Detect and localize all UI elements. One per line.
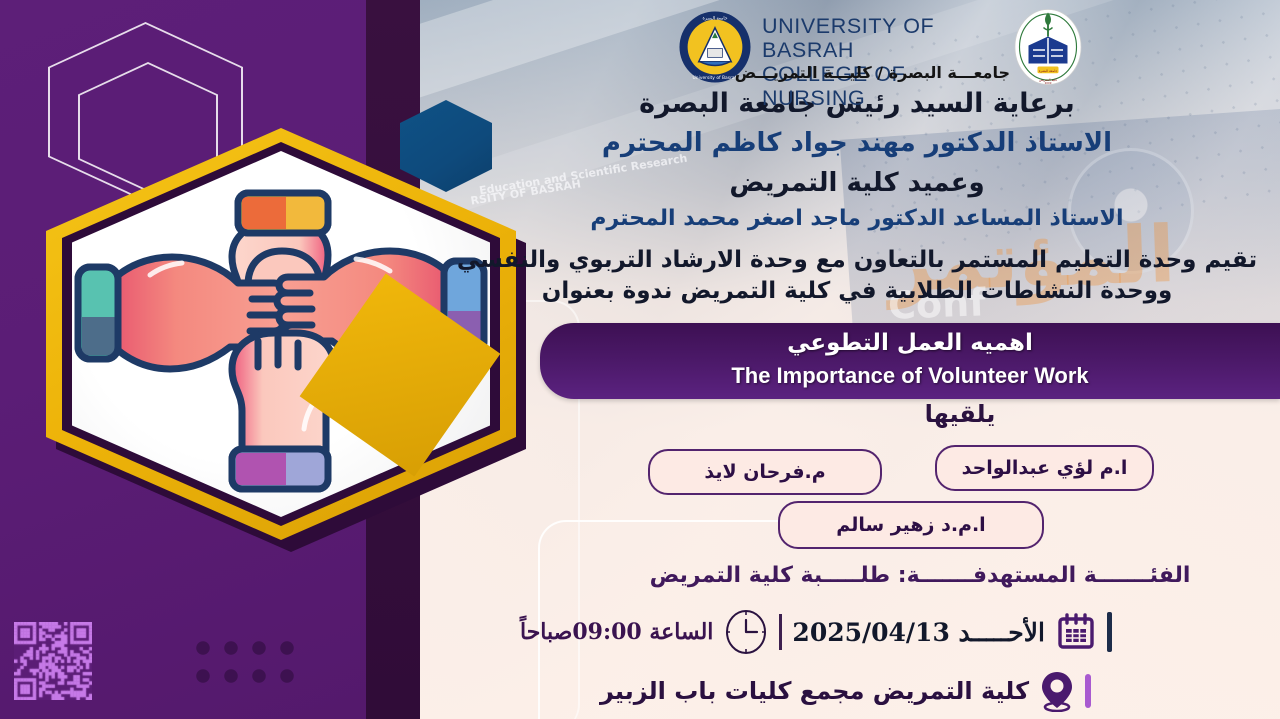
organizers-line-2: ووحدة النشاطات الطلابية في كلية التمريض … (442, 276, 1272, 307)
calendar-icon (1055, 611, 1097, 653)
date-accent-bar (1107, 612, 1112, 652)
poster-root: المؤتمر Conf Education and Scientific Re… (0, 0, 1280, 719)
svg-text:University of Basrah: University of Basrah (693, 75, 738, 81)
header-english-line1: UNIVERSITY OF BASRAH (762, 14, 1008, 62)
event-date: الأحـــــد 2025/04/13 (792, 618, 1045, 647)
speaker-pill-1[interactable]: ا.م لؤي عبدالواحد (935, 445, 1154, 491)
speaker-pill-3[interactable]: ا.م.د زهير سالم (778, 501, 1044, 549)
seminar-title-arabic: اهميه العمل التطوعي (540, 330, 1280, 356)
date-time-row: الأحـــــد 2025/04/13 الساعة 09:00صباحاً (520, 606, 1280, 658)
clock-icon (723, 608, 769, 656)
header-english-title: UNIVERSITY OF BASRAH COLLEGE OF NURSING (762, 14, 1008, 110)
presented-by-label: يلقيها (640, 400, 1280, 428)
svg-text:2009: 2009 (1045, 81, 1052, 85)
header-arabic-title: جامعـــة البصرة / كليـــة التمريـــض (756, 63, 1010, 82)
speaker-pill-2[interactable]: م.فرحان لايذ (648, 449, 882, 495)
dean-title-line: وعميد كلية التمريض (442, 168, 1272, 198)
location-pin-icon (1039, 670, 1075, 712)
target-audience-line: الفئـــــــة المستهدفـــــــة: طلـــــبة… (560, 563, 1280, 588)
dean-name-line: الاستاذ المساعد الدكتور ماجد اصغر محمد ا… (442, 206, 1272, 231)
svg-text:جامعة البصرة: جامعة البصرة (703, 17, 728, 22)
organizers-line-1: تقيم وحدة التعليم المستمر بالتعاون مع وح… (442, 245, 1272, 276)
datetime-separator (779, 614, 782, 650)
event-location: كلية التمريض مجمع كليات باب الزبير (600, 677, 1029, 705)
dot-grid-decoration (185, 630, 297, 696)
seminar-title-english: The Importance of Volunteer Work (540, 363, 1280, 389)
president-name-line: الاستاذ الدكتور مهند جواد كاظم المحترم (442, 128, 1272, 158)
organizers-block: تقيم وحدة التعليم المستمر بالتعاون مع وح… (442, 245, 1272, 307)
header: جامعة البصرة University of Basrah جامعة … (640, 6, 1280, 86)
seminar-title-banner: اهميه العمل التطوعي The Importance of Vo… (540, 323, 1280, 399)
location-row: كلية التمريض مجمع كليات باب الزبير (600, 670, 1280, 712)
qr-code[interactable] (14, 622, 92, 700)
svg-text:جامعة البصرة: جامعة البصرة (1039, 69, 1058, 73)
college-of-nursing-seal: جامعة البصرة كلية التمريض 2009 (1010, 8, 1086, 86)
event-time: الساعة 09:00صباحاً (520, 619, 713, 645)
location-accent-bar (1085, 674, 1091, 708)
